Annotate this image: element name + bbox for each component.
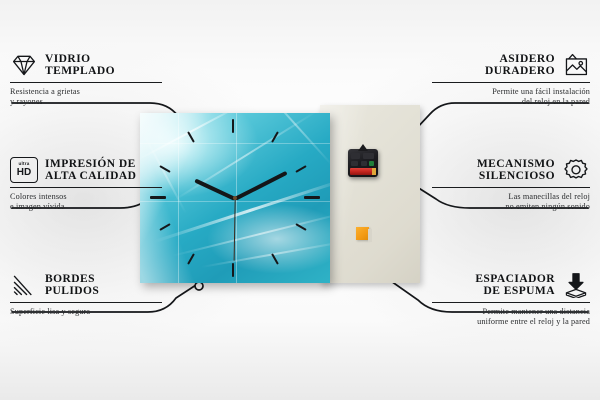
polished-edges-icon [10, 272, 38, 298]
feature-mecanismo-silencioso: MECANISMO SILENCIOSO Las manecillas del … [432, 157, 590, 212]
feature-description: Las manecillas del reloj no emiten ningú… [432, 192, 590, 212]
feature-asidero-duradero: ASIDERO DURADERO Permite una fácil insta… [432, 52, 590, 107]
product-image [140, 105, 420, 285]
feature-espaciador-espuma: ESPACIADOR DE ESPUMA Permite mantener un… [432, 272, 590, 327]
feature-description: Colores intensos e imagen vívida [10, 192, 162, 212]
clock-glass-face [140, 113, 330, 283]
feature-description: Permite una fácil instalación del reloj … [432, 87, 590, 107]
feature-divider [10, 82, 162, 83]
feature-impresion-alta-calidad: ultra HD IMPRESIÓN DE ALTA CALIDAD Color… [10, 157, 162, 212]
feature-title: BORDES PULIDOS [45, 273, 99, 298]
feature-bordes-pulidos: BORDES PULIDOS Superficie lisa y segura [10, 272, 162, 317]
picture-hanger-icon [562, 52, 590, 78]
clock-mechanism [348, 149, 378, 177]
feature-description: Superficie lisa y segura [10, 307, 162, 317]
feature-title: MECANISMO SILENCIOSO [477, 158, 555, 183]
feature-title: ESPACIADOR DE ESPUMA [475, 273, 555, 298]
foam-spacer [356, 227, 369, 240]
gear-icon [562, 157, 590, 183]
clock-back-panel [320, 105, 420, 283]
ultra-hd-icon: ultra HD [10, 157, 38, 183]
feature-divider [10, 302, 162, 303]
feature-divider [10, 187, 162, 188]
ultra-hd-icon-label-large: HD [17, 168, 31, 178]
feature-divider [432, 82, 590, 83]
clock-dial [140, 113, 330, 283]
clock-hour-hand [194, 179, 236, 201]
feature-title: ASIDERO DURADERO [485, 53, 555, 78]
feature-divider [432, 302, 590, 303]
feature-description: Permite mantener una distancia uniforme … [432, 307, 590, 327]
feature-title: IMPRESIÓN DE ALTA CALIDAD [45, 158, 136, 183]
clock-minute-hand [234, 171, 287, 201]
battery-terminal [372, 168, 376, 175]
diamond-icon [10, 52, 38, 78]
foam-spacer-icon [562, 272, 590, 298]
feature-divider [432, 187, 590, 188]
feature-vidrio-templado: VIDRIO TEMPLADO Resistencia a grietas y … [10, 52, 162, 107]
feature-description: Resistencia a grietas y rayones [10, 87, 162, 107]
clock-battery [350, 168, 376, 175]
clock-second-hand [233, 199, 235, 261]
feature-title: VIDRIO TEMPLADO [45, 53, 115, 78]
infographic-canvas: VIDRIO TEMPLADO Resistencia a grietas y … [0, 0, 600, 400]
clock-center-pin [233, 196, 237, 200]
